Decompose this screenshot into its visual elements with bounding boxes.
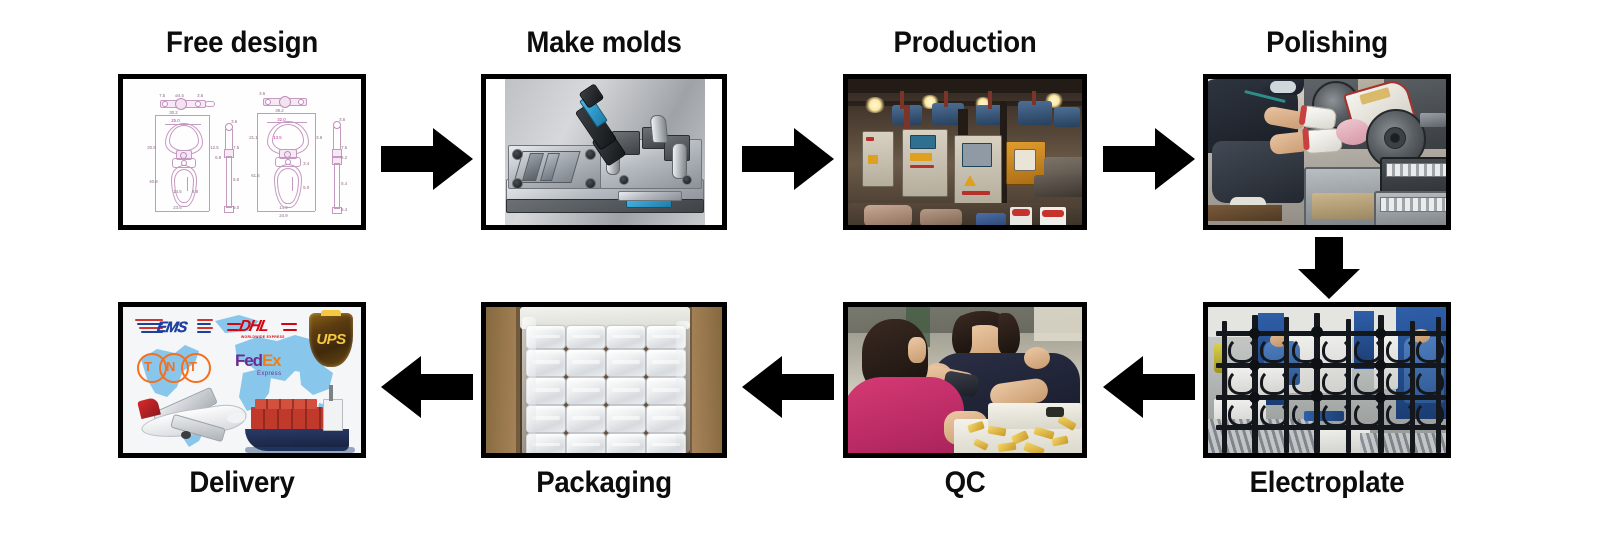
process-flow-diagram: Free design Make molds Production Polish…: [0, 0, 1600, 538]
step-label-electroplate: Electroplate: [1213, 468, 1441, 498]
arrow-production-to-polishing: [1103, 126, 1195, 192]
free-design-image: 7.5 ø4.5 3.6 30.2 25.0 20.9 40.8 23.6 12…: [123, 79, 361, 225]
panel-production: [843, 74, 1087, 230]
step-label-polishing: Polishing: [1213, 28, 1441, 58]
panel-packaging: [481, 302, 727, 458]
step-label-make-molds: Make molds: [491, 28, 717, 58]
packaging-image: [486, 307, 722, 453]
arrow-make-molds-to-production: [742, 126, 834, 192]
logo-dhl: DHL WORLDWIDE EXPRESS: [227, 317, 299, 343]
logo-fedex-tagline: Express: [257, 371, 281, 377]
panel-electroplate: [1203, 302, 1451, 458]
arrow-polishing-to-electroplate: [1296, 237, 1362, 299]
qc-image: [848, 307, 1082, 453]
step-label-free-design: Free design: [128, 28, 356, 58]
logo-dhl-text: DHL: [237, 318, 269, 336]
logo-fedex-ex: Ex: [262, 351, 281, 370]
step-label-production: Production: [853, 28, 1077, 58]
electroplate-image: [1208, 307, 1446, 453]
step-label-qc: QC: [853, 468, 1077, 498]
logo-ems-text: EMS: [156, 319, 188, 336]
logo-fedex-fed: Fed: [235, 351, 262, 370]
make-molds-image: [486, 79, 722, 225]
panel-polishing: [1203, 74, 1451, 230]
logo-fedex: FedEx Express FedEx: [235, 351, 317, 385]
logo-tnt: T N T TNT: [137, 351, 221, 383]
panel-make-molds: [481, 74, 727, 230]
panel-delivery: EMS DHL WORLDWIDE EXPRESS: [118, 302, 366, 458]
arrow-electroplate-to-qc: [1103, 354, 1195, 420]
logo-dhl-tagline: WORLDWIDE EXPRESS: [241, 335, 285, 339]
panel-free-design: 7.5 ø4.5 3.6 30.2 25.0 20.9 40.8 23.6 12…: [118, 74, 366, 230]
step-label-delivery: Delivery: [128, 468, 356, 498]
production-image: [848, 79, 1082, 225]
panel-qc: [843, 302, 1087, 458]
logo-ems: EMS: [135, 317, 213, 341]
arrow-free-design-to-make-molds: [381, 126, 473, 192]
arrow-packaging-to-delivery: [381, 354, 473, 420]
logo-ups-text: UPS: [309, 331, 353, 348]
step-label-packaging: Packaging: [491, 468, 717, 498]
arrow-qc-to-packaging: [742, 354, 834, 420]
delivery-image: EMS DHL WORLDWIDE EXPRESS: [123, 307, 361, 453]
polishing-image: [1208, 79, 1446, 225]
